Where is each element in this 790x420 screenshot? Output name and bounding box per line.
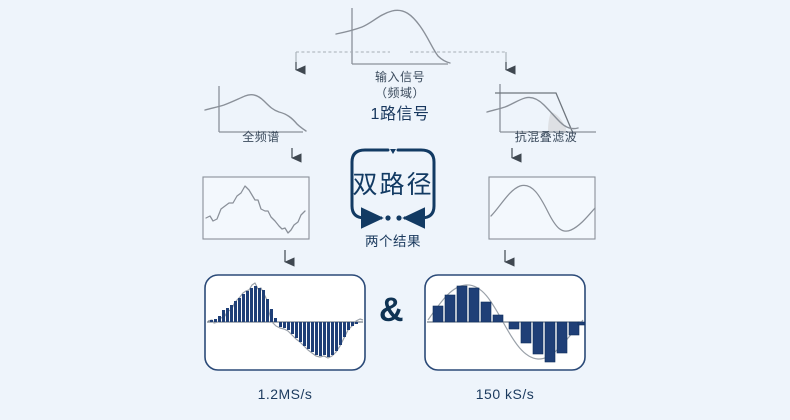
ampersand-joiner: & — [379, 291, 404, 330]
dual-path-subtitle: 两个结果 — [343, 230, 443, 250]
input-signal-chart — [336, 8, 450, 64]
input-signal-label-line2: （频域） — [340, 84, 460, 101]
result-card-right — [425, 275, 585, 370]
result-left-rate: 1.2MS/s — [225, 386, 345, 402]
input-signal-caption: 1路信号 — [340, 100, 460, 124]
diagram-canvas: 输入信号 （频域） 1路信号 全频谱 抗混叠滤波 双路径 两个结果 & 1.2M… — [0, 0, 790, 420]
anti-alias-filter-chart — [487, 84, 596, 132]
diagram-vector-layer — [0, 0, 790, 420]
anti-alias-label: 抗混叠滤波 — [496, 128, 596, 145]
input-signal-label-line1: 输入信号 — [340, 68, 460, 85]
result-right-rate: 150 kS/s — [445, 386, 565, 402]
full-spectrum-chart — [205, 86, 306, 132]
result-card-left — [205, 275, 365, 370]
time-domain-noisy-chart — [203, 177, 309, 239]
time-domain-sine-chart — [489, 177, 595, 239]
full-spectrum-label: 全频谱 — [216, 128, 306, 145]
dual-path-title: 双路径 — [352, 165, 434, 201]
